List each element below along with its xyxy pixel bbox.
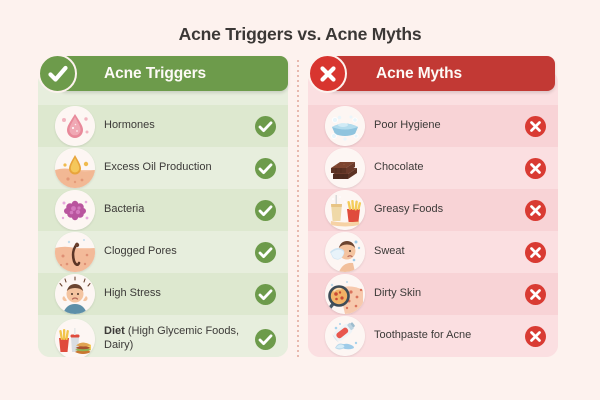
myths-header-bar: Acne Myths <box>326 56 555 91</box>
column-acne-triggers: Hormones <box>38 56 288 358</box>
list-item[interactable]: Sweat <box>308 231 558 273</box>
myths-header-label: Acne Myths <box>376 65 462 83</box>
x-circle-icon <box>525 326 546 347</box>
triggers-row-list: Hormones <box>38 105 288 357</box>
toothpaste-tube-icon <box>325 316 365 356</box>
list-item-label: High Stress <box>104 287 161 301</box>
list-item[interactable]: Excess Oil Production <box>38 147 288 189</box>
myths-panel: Poor Hygiene <box>308 70 558 357</box>
list-item-label: Poor Hygiene <box>374 119 441 133</box>
list-item[interactable]: Dirty Skin <box>308 273 558 315</box>
check-circle-icon <box>255 200 276 221</box>
page-title: Acne Triggers vs. Acne Myths <box>0 24 600 45</box>
x-circle-icon <box>525 158 546 179</box>
check-circle-icon <box>255 158 276 179</box>
x-circle-icon <box>308 54 347 93</box>
list-item[interactable]: Hormones <box>38 105 288 147</box>
list-item[interactable]: Toothpaste for Acne <box>308 315 558 357</box>
comparison-columns: Hormones <box>0 56 600 358</box>
x-circle-icon <box>525 200 546 221</box>
list-item-label: Greasy Foods <box>374 203 443 217</box>
magnifying-glass-skin-icon <box>325 274 365 314</box>
list-item[interactable]: High Stress <box>38 273 288 315</box>
triggers-header-label: Acne Triggers <box>104 65 206 83</box>
bacteria-cluster-icon <box>55 190 95 230</box>
stressed-person-icon <box>55 274 95 314</box>
diet-label-main: Diet <box>104 325 125 337</box>
check-circle-icon <box>255 242 276 263</box>
column-acne-myths: Poor Hygiene <box>308 56 558 358</box>
list-item-label: Excess Oil Production <box>104 161 212 175</box>
triggers-panel: Hormones <box>38 70 288 357</box>
list-item-label: Hormones <box>104 119 155 133</box>
list-item[interactable]: Chocolate <box>308 147 558 189</box>
list-item[interactable]: Greasy Foods <box>308 189 558 231</box>
list-item-label: Sweat <box>374 245 405 259</box>
check-circle-icon <box>38 54 77 93</box>
myths-row-list: Poor Hygiene <box>308 105 558 357</box>
clogged-pore-hair-follicle-icon <box>55 232 95 272</box>
list-item-label: Clogged Pores <box>104 245 177 259</box>
list-item-label: Dirty Skin <box>374 287 421 301</box>
x-circle-icon <box>525 284 546 305</box>
chocolate-bar-icon <box>325 148 365 188</box>
list-item-label: Bacteria <box>104 203 144 217</box>
triggers-header-bar: Acne Triggers <box>58 56 288 91</box>
list-item[interactable]: Diet (High Glycemic Foods, Dairy) <box>38 315 288 357</box>
fast-food-icon <box>55 319 95 357</box>
list-item-label: Diet (High Glycemic Foods, Dairy) <box>104 325 244 353</box>
check-circle-icon <box>255 116 276 137</box>
x-circle-icon <box>525 242 546 263</box>
list-item[interactable]: Poor Hygiene <box>308 105 558 147</box>
diet-label-sub: (High Glycemic Foods, Dairy) <box>104 325 239 351</box>
list-item-label: Chocolate <box>374 161 424 175</box>
list-item[interactable]: Bacteria <box>38 189 288 231</box>
list-item[interactable]: Clogged Pores <box>38 231 288 273</box>
blood-droplet-icon <box>55 106 95 146</box>
fries-and-drink-icon <box>325 190 365 230</box>
check-circle-icon <box>255 329 276 350</box>
oil-droplet-skin-icon <box>55 148 95 188</box>
check-circle-icon <box>255 284 276 305</box>
soap-bar-icon <box>325 106 365 146</box>
person-wiping-sweat-icon <box>325 232 365 272</box>
x-circle-icon <box>525 116 546 137</box>
list-item-label: Toothpaste for Acne <box>374 329 471 343</box>
